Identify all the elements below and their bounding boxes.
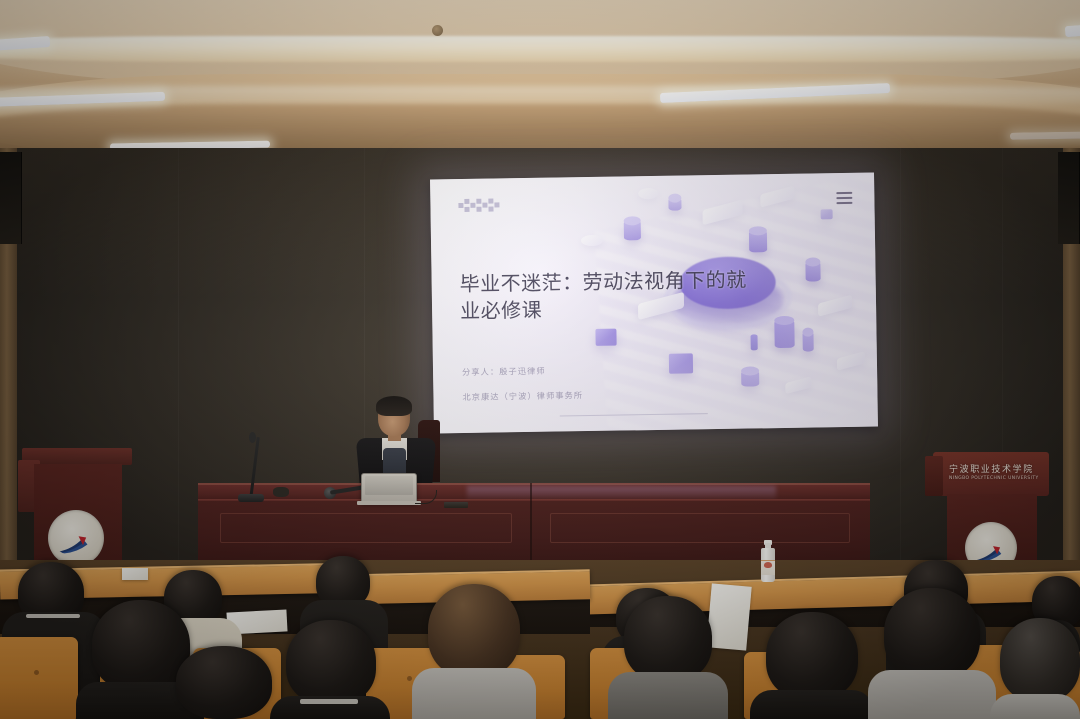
slide-shape-cylinder xyxy=(741,370,759,386)
cove-light-strip-1 xyxy=(0,36,1080,62)
audience-head xyxy=(1000,618,1080,702)
laptop-base xyxy=(357,501,421,505)
checkered-logo-icon xyxy=(458,198,498,211)
wall-seam xyxy=(178,148,179,588)
hamburger-menu-icon[interactable] xyxy=(836,192,852,207)
slide-shape-cylinder xyxy=(802,331,813,351)
slide-shape-cylinder xyxy=(774,320,794,348)
audience-head xyxy=(766,612,858,700)
audience-body xyxy=(608,672,728,719)
slide-title: 毕业不迷茫：劳动法视角下的就业必修课 xyxy=(459,266,760,324)
desk-panel xyxy=(550,513,850,543)
podium-name-en: NINGBO POLYTECHNIC UNIVERSITY xyxy=(949,476,1039,481)
audience-head xyxy=(428,584,520,678)
presenter-hair xyxy=(376,396,412,416)
desk-control-puck xyxy=(273,487,289,497)
laptop-icon xyxy=(361,473,417,503)
podium-right-side xyxy=(925,456,943,496)
audience-collar xyxy=(300,699,358,704)
wall-seam xyxy=(900,148,901,588)
wall-speaker-right xyxy=(1058,152,1080,244)
wall-speaker-left xyxy=(0,152,22,244)
slide-shape-cylinder xyxy=(749,230,767,252)
audience-body xyxy=(750,690,874,719)
audience-collar xyxy=(26,614,80,618)
laptop-screen xyxy=(365,476,413,495)
ceiling-smoke-detector-icon xyxy=(432,25,443,36)
desk-panel xyxy=(220,513,512,543)
podium-right: 宁波职业技术学院 NINGBO POLYTECHNIC UNIVERSITY xyxy=(925,452,1055,572)
smartphone-icon xyxy=(444,502,468,508)
audience-head xyxy=(176,646,272,719)
slide-shape-pale-disc xyxy=(638,188,658,199)
ceiling-panel-light-lower-right xyxy=(1010,131,1080,140)
microphone-icon xyxy=(249,432,256,443)
audience-paper xyxy=(706,583,751,650)
audience-body xyxy=(990,694,1080,719)
audience-head xyxy=(286,620,376,705)
presentation-slide: 毕业不迷茫：劳动法视角下的就业必修课 分享人：殷子迅律师 北京康达（宁波）律师事… xyxy=(430,173,878,434)
water-bottle-icon xyxy=(761,540,775,582)
microphone-base xyxy=(238,494,264,502)
slide-shape-cube xyxy=(595,329,616,346)
audience-head xyxy=(624,596,712,682)
lecture-hall-photo: 毕业不迷茫：劳动法视角下的就业必修课 分享人：殷子迅律师 北京康达（宁波）律师事… xyxy=(0,0,1080,719)
projection-screen: 毕业不迷茫：劳动法视角下的就业必修课 分享人：殷子迅律师 北京康达（宁波）律师事… xyxy=(430,173,878,434)
bottle-logo-icon xyxy=(764,562,772,568)
audience-chair[interactable] xyxy=(0,637,78,719)
slide-shape-cylinder xyxy=(668,198,681,211)
slide-shape-bottle xyxy=(751,334,758,350)
desk-seam xyxy=(530,483,532,565)
audience-head xyxy=(884,588,980,680)
university-crest-icon xyxy=(48,510,104,566)
audience-body xyxy=(868,670,996,719)
audience-body xyxy=(412,668,536,719)
podium-name-cn: 宁波职业技术学院 xyxy=(949,462,1034,475)
audience-paper xyxy=(122,568,148,580)
podium-left xyxy=(18,448,136,573)
slide-shape-cube xyxy=(821,209,833,219)
ceiling xyxy=(0,0,1080,152)
slide-shape-cylinder xyxy=(624,220,641,240)
crest-swoosh-icon xyxy=(57,535,95,554)
slide-shape-cylinder xyxy=(805,261,820,281)
